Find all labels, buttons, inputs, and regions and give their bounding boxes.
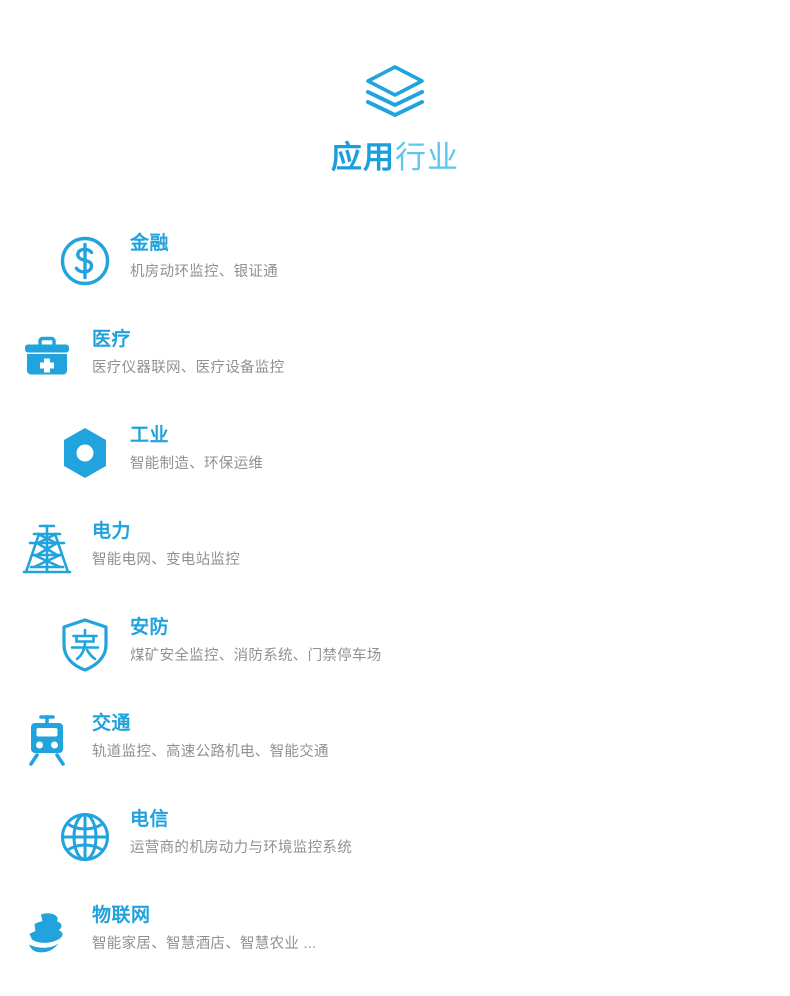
first-aid-kit-icon xyxy=(18,326,76,388)
industry-item-industry[interactable]: 工业 智能制造、环保运维 xyxy=(56,420,416,516)
industry-title: 电信 xyxy=(130,808,352,832)
industry-title: 金融 xyxy=(130,232,278,256)
industry-grid: 金融 机房动环监控、银证通 医疗 医疗仪器联网、医疗设备监控 xyxy=(0,228,790,996)
industry-desc: 智能制造、环保运维 xyxy=(130,454,263,474)
industry-title: 电力 xyxy=(92,520,240,544)
industry-text: 电信 运营商的机房动力与环境监控系统 xyxy=(130,804,352,858)
industry-title: 物联网 xyxy=(92,904,317,928)
industry-item-transport[interactable]: 交通 轨道监控、高速公路机电、智能交通 xyxy=(18,708,378,804)
industry-desc: 智能电网、变电站监控 xyxy=(92,550,240,570)
industry-text: 工业 智能制造、环保运维 xyxy=(130,420,263,474)
industry-item-security[interactable]: 安防 煤矿安全监控、消防系统、门禁停车场 xyxy=(56,612,416,708)
page-title-strong: 应用 xyxy=(331,140,395,175)
industry-desc: 医疗仪器联网、医疗设备监控 xyxy=(92,358,284,378)
page-title: 应用行业 xyxy=(331,140,459,176)
dollar-circle-icon xyxy=(56,230,114,292)
industry-item-medical[interactable]: 医疗 医疗仪器联网、医疗设备监控 xyxy=(18,324,378,420)
train-icon xyxy=(18,710,76,772)
industry-desc: 煤矿安全监控、消防系统、门禁停车场 xyxy=(130,646,382,666)
industry-title: 交通 xyxy=(92,712,329,736)
industry-desc: 运营商的机房动力与环境监控系统 xyxy=(130,838,352,858)
industry-text: 安防 煤矿安全监控、消防系统、门禁停车场 xyxy=(130,612,382,666)
industry-desc: 机房动环监控、银证通 xyxy=(130,262,278,282)
page-header: 应用行业 xyxy=(0,0,790,176)
industry-desc: 轨道监控、高速公路机电、智能交通 xyxy=(92,742,329,762)
industry-text: 医疗 医疗仪器联网、医疗设备监控 xyxy=(92,324,284,378)
industry-item-finance[interactable]: 金融 机房动环监控、银证通 xyxy=(56,228,416,324)
shield-safety-icon xyxy=(56,614,114,676)
layers-stack-icon xyxy=(362,62,428,120)
application-industries-page: 应用行业 金融 机房动环监控、银证通 xyxy=(0,0,790,703)
power-tower-icon xyxy=(18,518,76,580)
industry-text: 电力 智能电网、变电站监控 xyxy=(92,516,240,570)
industry-text: 金融 机房动环监控、银证通 xyxy=(130,228,278,282)
industry-title: 医疗 xyxy=(92,328,284,352)
industry-desc: 智能家居、智慧酒店、智慧农业 ... xyxy=(92,934,317,954)
industry-item-iot[interactable]: 物联网 智能家居、智慧酒店、智慧农业 ... xyxy=(18,900,378,996)
industry-title: 安防 xyxy=(130,616,382,640)
globe-icon xyxy=(56,806,114,868)
iot-sphere-icon xyxy=(18,902,76,964)
industry-text: 物联网 智能家居、智慧酒店、智慧农业 ... xyxy=(92,900,317,954)
industry-title: 工业 xyxy=(130,424,263,448)
industry-item-power[interactable]: 电力 智能电网、变电站监控 xyxy=(18,516,378,612)
industry-item-telecom[interactable]: 电信 运营商的机房动力与环境监控系统 xyxy=(56,804,416,900)
hex-nut-icon xyxy=(56,422,114,484)
industry-text: 交通 轨道监控、高速公路机电、智能交通 xyxy=(92,708,329,762)
page-title-light: 行业 xyxy=(395,140,459,175)
